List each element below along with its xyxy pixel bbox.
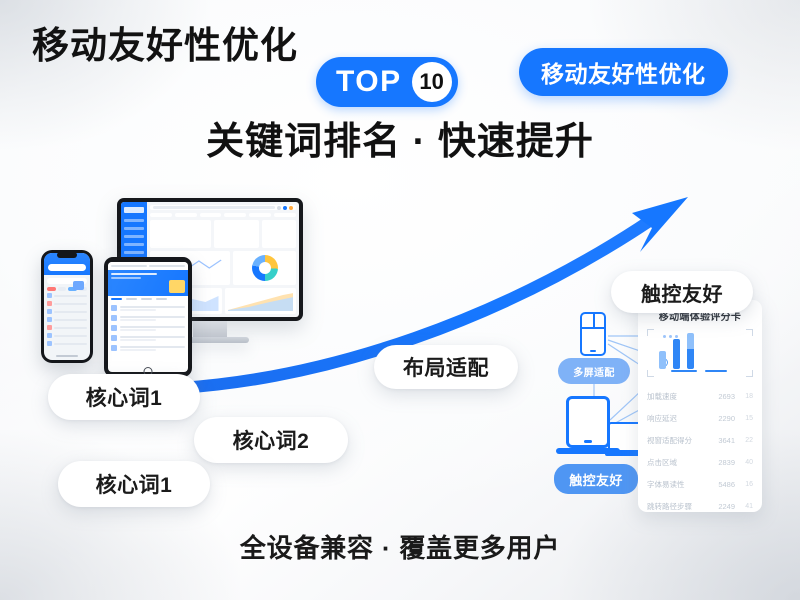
top-rank-badge: TOP 10 bbox=[316, 57, 458, 107]
phone-list bbox=[44, 293, 90, 346]
device-compatibility-diagram: 多屏适配 触控友好 移动端体验评分卡 加载速度 bbox=[552, 300, 762, 512]
tablet-list bbox=[108, 303, 188, 353]
list-item bbox=[111, 305, 185, 311]
row-delta: 16 bbox=[739, 481, 753, 488]
diagram-multiscreen-pill: 多屏适配 bbox=[558, 358, 630, 384]
list-item bbox=[111, 315, 185, 321]
row-name: 响应延迟 bbox=[647, 413, 709, 424]
header-blue-badge: 移动友好性优化 bbox=[519, 48, 728, 96]
diagram-phone-icon bbox=[580, 312, 606, 356]
footer-tagline: 全设备兼容 · 覆盖更多用户 bbox=[0, 528, 800, 565]
dashboard-card bbox=[262, 220, 296, 248]
score-card-chart bbox=[647, 329, 753, 377]
top-badge-word: TOP bbox=[336, 67, 402, 97]
score-card-rows: 加载速度 2693 18 响应延迟 2290 15 视窗适配得分 3641 22… bbox=[647, 385, 753, 517]
row-name: 加载速度 bbox=[647, 391, 709, 402]
row-delta: 18 bbox=[739, 393, 753, 400]
list-item bbox=[111, 345, 185, 351]
row-name: 点击区域 bbox=[647, 457, 709, 468]
row-score: 2290 bbox=[713, 414, 735, 423]
list-item bbox=[111, 335, 185, 341]
chart-bars bbox=[659, 333, 743, 369]
phone-home-indicator bbox=[56, 355, 78, 357]
row-score: 5486 bbox=[713, 480, 735, 489]
page-subtitle: 关键词排名 · 快速提升 bbox=[0, 123, 800, 161]
row-score: 2839 bbox=[713, 458, 735, 467]
phone-notch bbox=[57, 252, 77, 258]
row-name: 字体易读性 bbox=[647, 479, 709, 490]
tablet-screen bbox=[108, 262, 188, 372]
row-score: 3641 bbox=[713, 436, 735, 445]
table-row: 视窗适配得分 3641 22 bbox=[647, 429, 753, 451]
diagram-touch-pill: 触控友好 bbox=[554, 464, 638, 494]
page-title: 移动友好性优化 bbox=[32, 27, 298, 64]
pill-keyword-1[interactable]: 核心词1 bbox=[48, 374, 200, 420]
row-delta: 41 bbox=[739, 503, 753, 510]
list-item bbox=[111, 325, 185, 331]
table-row: 点击区域 2839 40 bbox=[647, 451, 753, 473]
pill-keyword-3[interactable]: 核心词1 bbox=[58, 461, 210, 507]
list-item bbox=[47, 317, 87, 322]
table-row: 字体易读性 5486 16 bbox=[647, 473, 753, 495]
dashboard-cards-row-1 bbox=[150, 220, 296, 248]
top-badge-number: 10 bbox=[412, 62, 452, 102]
pill-touch-friendly[interactable]: 触控友好 bbox=[611, 271, 753, 313]
monitor-neck bbox=[193, 321, 227, 337]
list-item bbox=[47, 341, 87, 346]
donut-chart bbox=[252, 255, 278, 281]
table-row: 加载速度 2693 18 bbox=[647, 385, 753, 407]
row-delta: 40 bbox=[739, 459, 753, 466]
tablet-banner bbox=[108, 270, 188, 296]
banner-image bbox=[169, 280, 185, 293]
diagram-tablet-stand bbox=[556, 448, 620, 454]
row-delta: 15 bbox=[739, 415, 753, 422]
phone-feature-card bbox=[47, 278, 87, 284]
phone-screen bbox=[44, 253, 90, 360]
row-name: 跳转路径步骤 bbox=[647, 501, 709, 512]
table-row: 跳转路径步骤 2249 41 bbox=[647, 495, 753, 517]
row-score: 2693 bbox=[713, 392, 735, 401]
pill-layout-fit[interactable]: 布局适配 bbox=[374, 345, 518, 389]
poster-canvas: 移动友好性优化 TOP 10 移动友好性优化 关键词排名 · 快速提升 bbox=[0, 0, 800, 600]
dashboard-filter-chips bbox=[150, 213, 296, 217]
list-item bbox=[47, 301, 87, 306]
search-input[interactable] bbox=[48, 264, 86, 271]
phone-mockup bbox=[41, 250, 93, 363]
list-item bbox=[47, 333, 87, 338]
pill-keyword-2[interactable]: 核心词2 bbox=[194, 417, 348, 463]
list-item bbox=[47, 309, 87, 314]
tablet-tabs bbox=[108, 296, 188, 303]
row-score: 2249 bbox=[713, 502, 735, 511]
dashboard-donut-card bbox=[233, 251, 296, 285]
list-item bbox=[47, 293, 87, 298]
dashboard-topbar bbox=[150, 205, 296, 210]
thumbnail-image bbox=[73, 281, 84, 290]
diagram-tablet-icon bbox=[566, 396, 610, 448]
row-name: 视窗适配得分 bbox=[647, 435, 709, 446]
tablet-statusbar bbox=[108, 262, 188, 270]
row-delta: 22 bbox=[739, 437, 753, 444]
dashboard-card bbox=[150, 220, 211, 248]
tablet-mockup bbox=[104, 257, 192, 377]
dashboard-area-card bbox=[225, 288, 297, 314]
table-row: 响应延迟 2290 15 bbox=[647, 407, 753, 429]
score-card: 移动端体验评分卡 加载速度 2693 18 bbox=[638, 300, 762, 512]
list-item bbox=[47, 325, 87, 330]
dashboard-card bbox=[214, 220, 259, 248]
